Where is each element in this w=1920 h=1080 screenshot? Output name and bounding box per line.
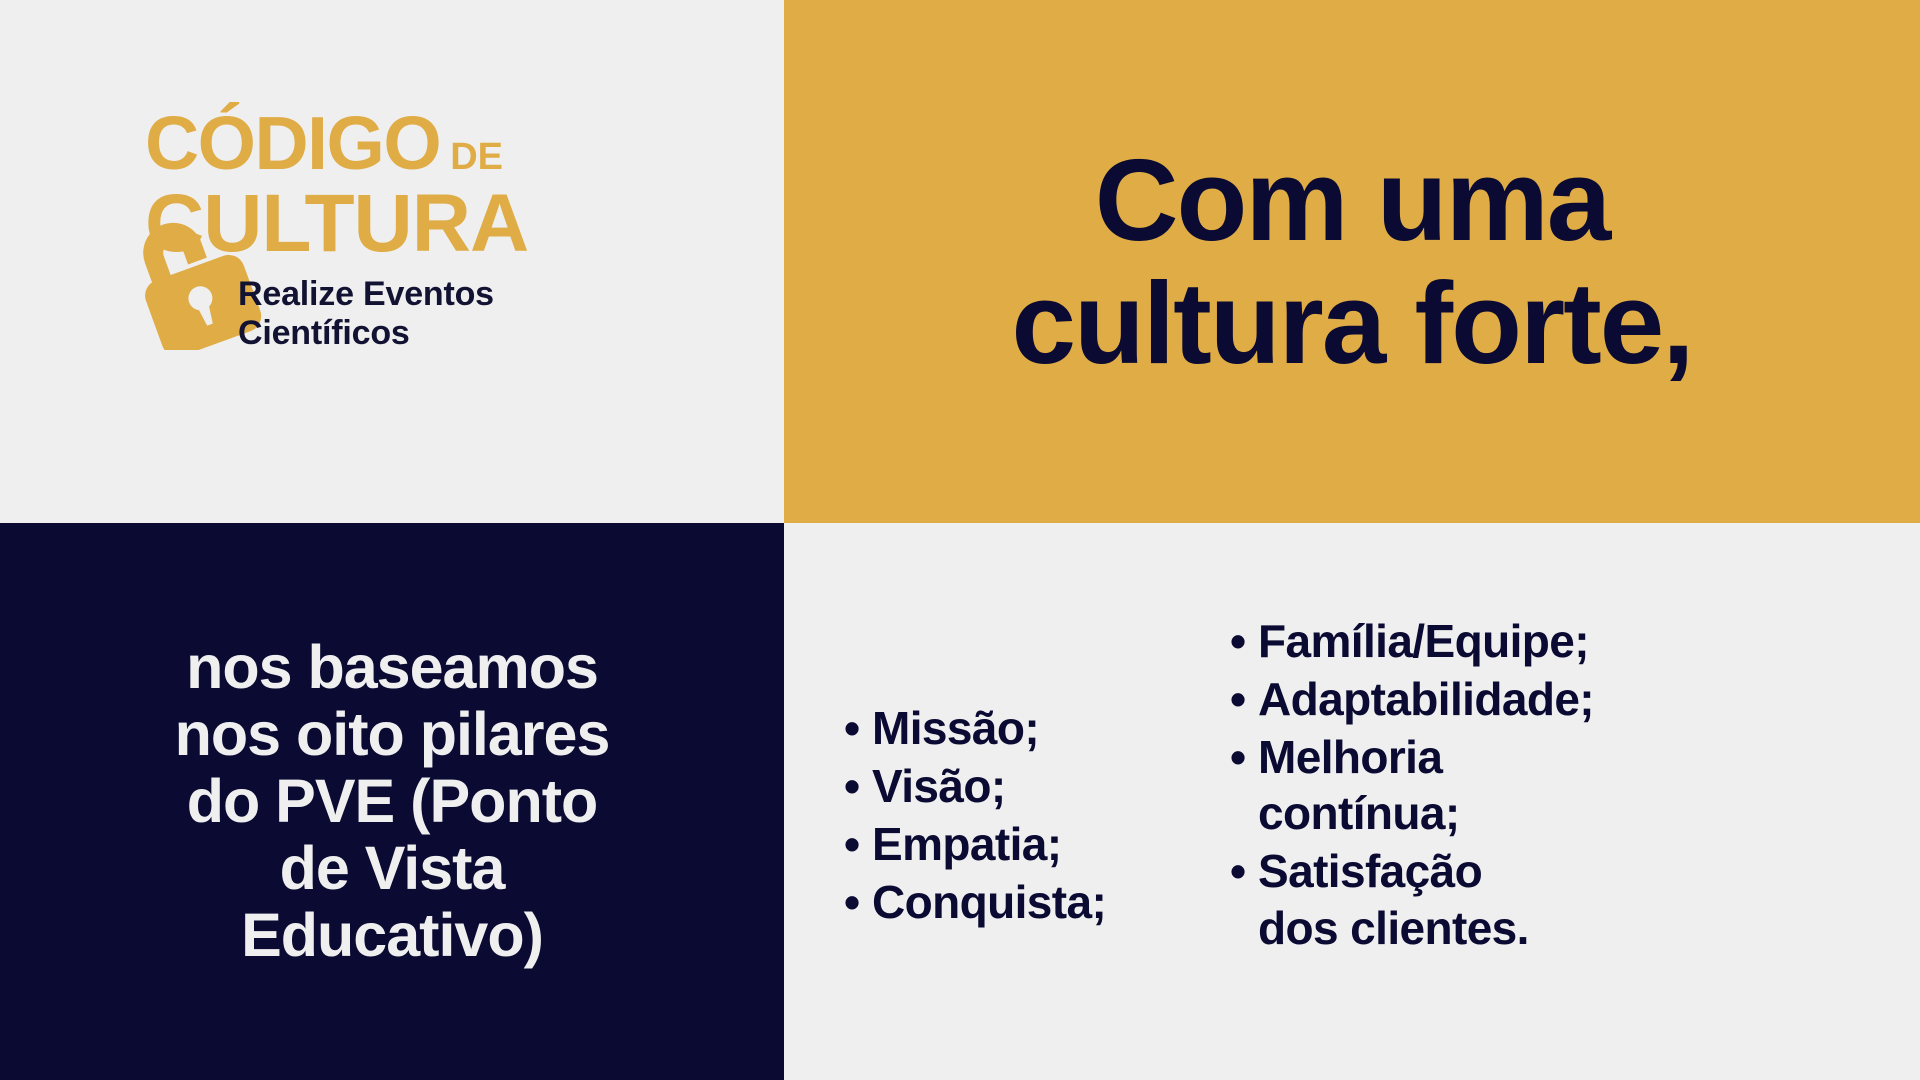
bullet-icon: • [844, 700, 872, 756]
bullet-icon: • [1230, 729, 1258, 785]
pillar-label: Empatia; [872, 816, 1214, 872]
statement-text: nos baseamos nos oito pilares do PVE (Po… [119, 634, 666, 969]
pillar-label: Conquista; [872, 874, 1214, 930]
logo-word-de: DE [450, 138, 503, 176]
statement-block: nos baseamos nos oito pilares do PVE (Po… [0, 523, 784, 1080]
list-item: • Empatia; [844, 816, 1214, 872]
list-item: • Missão; [844, 700, 1214, 756]
bullet-icon: • [1230, 843, 1258, 899]
pillar-label: Família/Equipe; [1258, 613, 1830, 669]
bullet-icon: • [844, 758, 872, 814]
pillar-label: Satisfação dos clientes. [1258, 843, 1830, 955]
pillar-label: Melhoria contínua; [1258, 729, 1830, 841]
bullet-icon: • [1230, 671, 1258, 727]
list-item: • Visão; [844, 758, 1214, 814]
logo-lockup: CÓDIGO DE CULTURA Realize [128, 100, 648, 370]
pillar-label: Adaptabilidade; [1258, 671, 1830, 727]
slide-canvas: CÓDIGO DE CULTURA Realize [0, 0, 1920, 1080]
pillars-block: • Missão; • Visão; • Empatia; • Conquist… [784, 523, 1920, 1080]
logo-word-codigo: CÓDIGO [145, 106, 440, 181]
pillar-label: Missão; [872, 700, 1214, 756]
logo-title-line-1: CÓDIGO DE [145, 106, 503, 181]
pillar-list-column-2: • Família/Equipe; • Adaptabilidade; • Me… [1230, 613, 1830, 958]
bullet-icon: • [844, 874, 872, 930]
headline-text: Com uma cultura forte, [982, 139, 1723, 385]
logo-tagline: Realize Eventos Científicos [238, 275, 494, 353]
list-item: • Conquista; [844, 874, 1214, 930]
list-item: • Adaptabilidade; [1230, 671, 1830, 727]
list-item: • Melhoria contínua; [1230, 729, 1830, 841]
bullet-icon: • [844, 816, 872, 872]
list-item: • Família/Equipe; [1230, 613, 1830, 669]
list-item: • Satisfação dos clientes. [1230, 843, 1830, 955]
brand-logo: CÓDIGO DE CULTURA Realize [128, 100, 648, 370]
bullet-icon: • [1230, 613, 1258, 669]
pillar-list-column-1: • Missão; • Visão; • Empatia; • Conquist… [844, 700, 1214, 932]
headline-block: Com uma cultura forte, [784, 0, 1920, 523]
pillar-label: Visão; [872, 758, 1214, 814]
